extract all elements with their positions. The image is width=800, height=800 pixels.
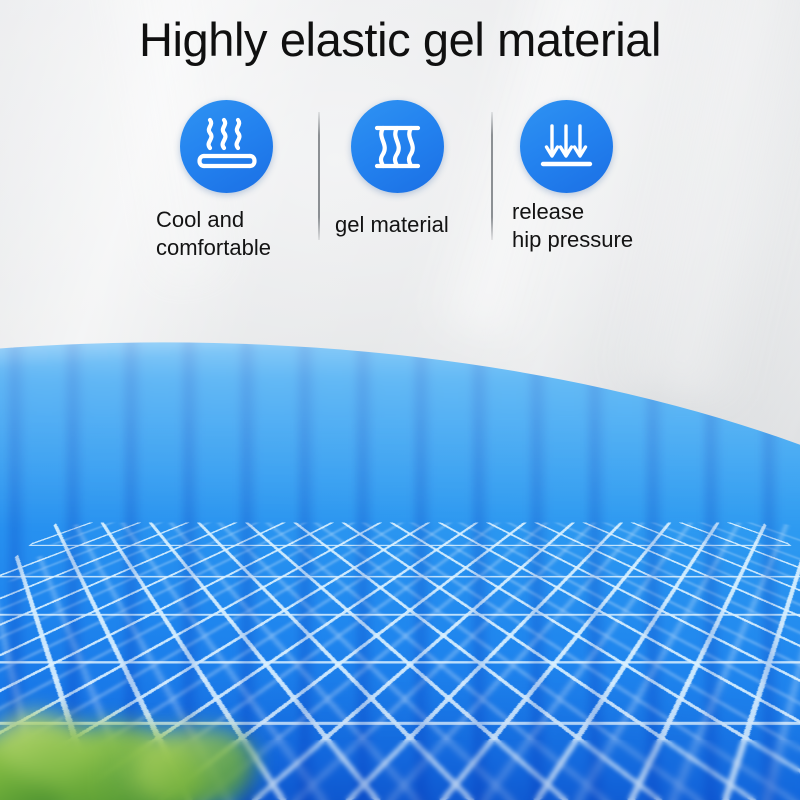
feature-label: Cool and comfortable [156, 206, 271, 262]
feature-divider [491, 112, 493, 240]
product-feature-poster: Highly elastic gel material [0, 0, 800, 800]
elastic-wave-icon [351, 100, 444, 193]
downward-pressure-arrows-icon [520, 100, 613, 193]
foreground-foliage [0, 670, 290, 800]
page-title: Highly elastic gel material [0, 14, 800, 66]
feature-badge [351, 100, 444, 193]
feature-row: Cool and comfortable gel material [0, 98, 800, 288]
feature-divider [318, 112, 320, 240]
feature-badge [520, 100, 613, 193]
feature-badge [180, 100, 273, 193]
feature-label: gel material [335, 211, 449, 239]
feature-label: release hip pressure [512, 198, 633, 254]
steam-heat-icon [180, 100, 273, 193]
